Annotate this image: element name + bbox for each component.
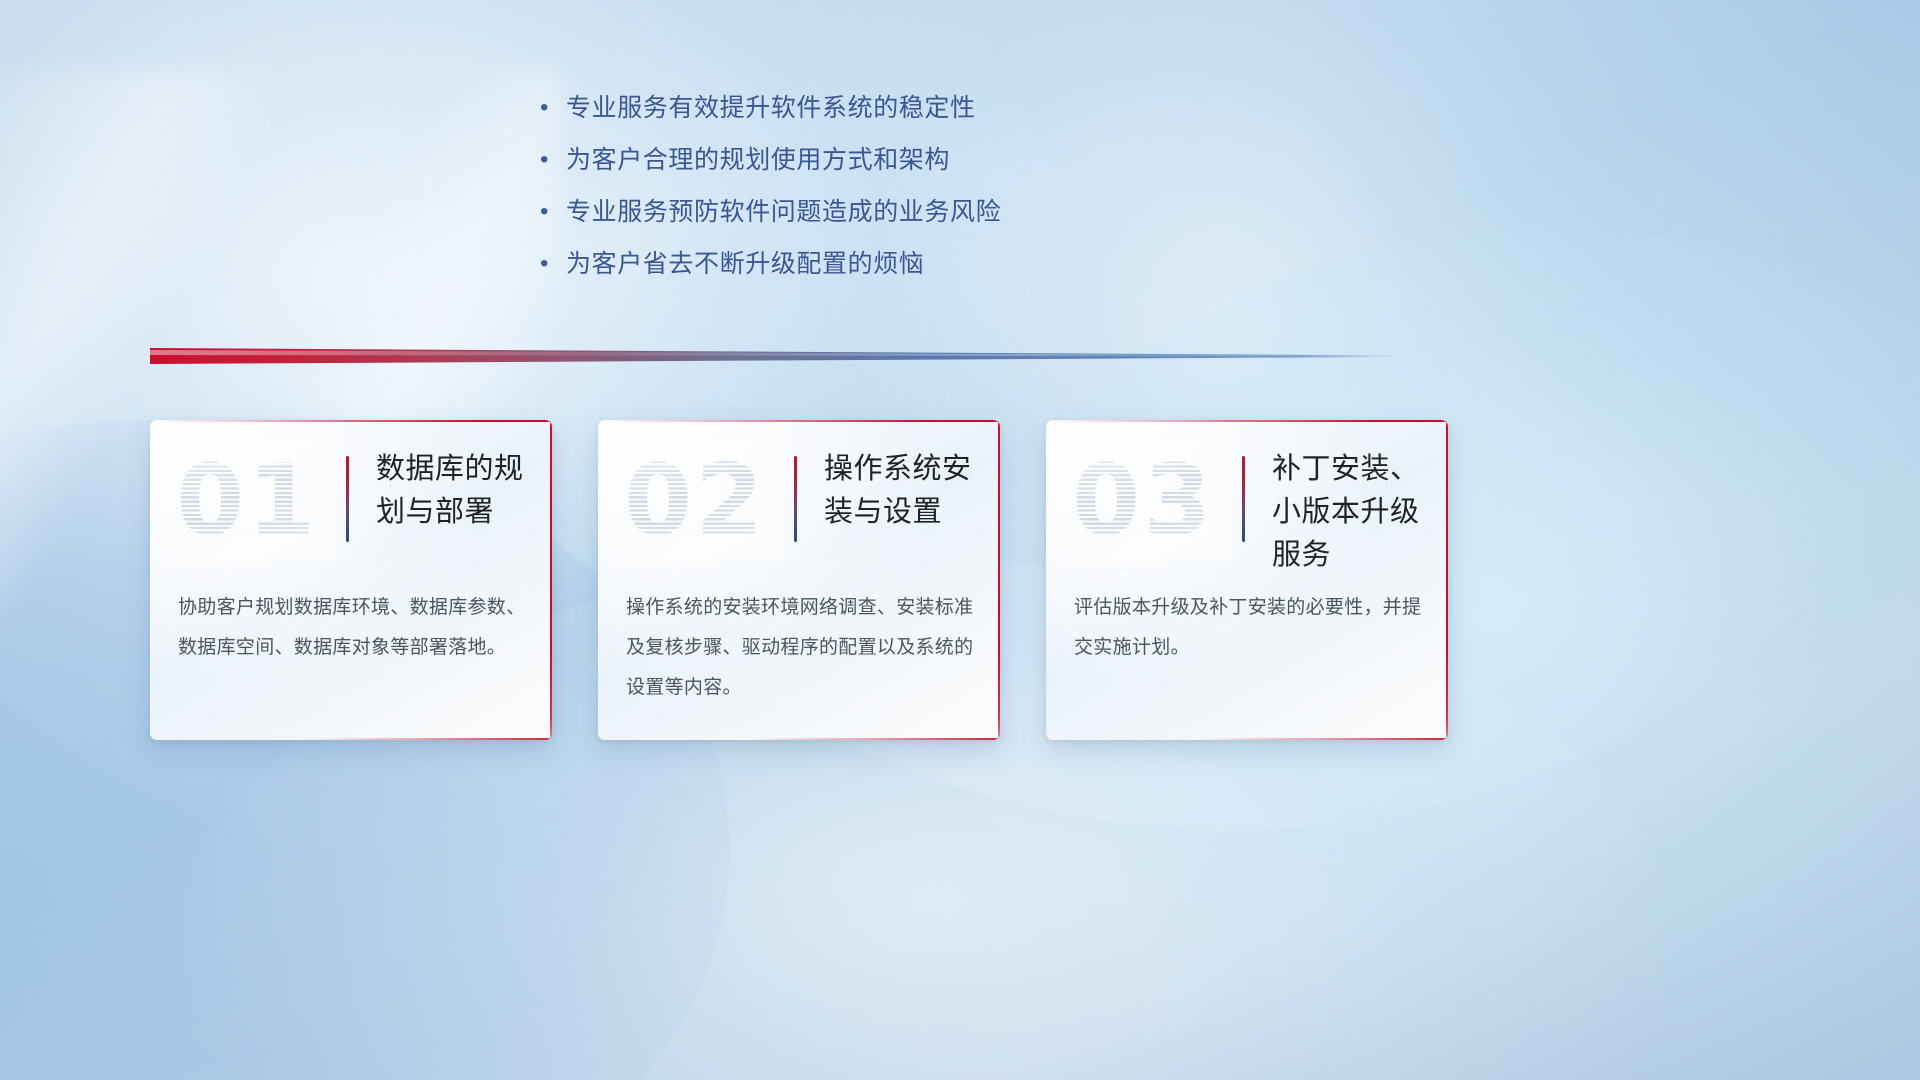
card-number-text: 03: [1072, 444, 1214, 558]
service-card-list: 01 数据库的规划与部署 协助客户规划数据库环境、数据库参数、数据库空间、数据库…: [150, 420, 1450, 740]
bullet-text: 为客户合理的规划使用方式和架构: [566, 142, 950, 178]
card-accent-bottom-border: [303, 738, 552, 740]
card-header: 02 操作系统安装与设置: [598, 420, 1000, 578]
bullet-text: 专业服务有效提升软件系统的稳定性: [566, 90, 976, 126]
card-number-watermark: 03: [1072, 442, 1232, 560]
bullet-text: 专业服务预防软件问题造成的业务风险: [566, 194, 1001, 230]
service-card-02[interactable]: 02 操作系统安装与设置 操作系统的安装环境网络调查、安装标准及复核步骤、驱动程…: [598, 420, 1000, 740]
bullet-dot-icon: •: [540, 142, 566, 178]
card-title: 操作系统安装与设置: [824, 448, 984, 534]
card-divider-bar: [794, 456, 797, 542]
list-item: • 为客户合理的规划使用方式和架构: [540, 142, 1160, 194]
card-header: 01 数据库的规划与部署: [150, 420, 552, 578]
section-divider: [150, 348, 1400, 364]
bullet-dot-icon: •: [540, 194, 566, 230]
card-number-watermark: 01: [176, 442, 336, 560]
bullet-dot-icon: •: [540, 90, 566, 126]
service-card-03[interactable]: 03 补丁安装、小版本升级服务 评估版本升级及补丁安装的必要性，并提交实施计划。: [1046, 420, 1448, 740]
card-accent-bottom-border: [1199, 738, 1448, 740]
card-title: 数据库的规划与部署: [376, 448, 536, 534]
card-body-text: 评估版本升级及补丁安装的必要性，并提交实施计划。: [1074, 588, 1422, 668]
divider-gradient-bar: [150, 348, 1400, 364]
card-number-text: 02: [624, 444, 766, 558]
card-body-text: 操作系统的安装环境网络调查、安装标准及复核步骤、驱动程序的配置以及系统的设置等内…: [626, 588, 974, 708]
card-body-text: 协助客户规划数据库环境、数据库参数、数据库空间、数据库对象等部署落地。: [178, 588, 526, 668]
card-number-text: 01: [176, 444, 318, 558]
card-title: 补丁安装、小版本升级服务: [1272, 448, 1432, 577]
list-item: • 为客户省去不断升级配置的烦恼: [540, 246, 1160, 298]
card-divider-bar: [1242, 456, 1245, 542]
card-header: 03 补丁安装、小版本升级服务: [1046, 420, 1448, 578]
card-accent-bottom-border: [751, 738, 1000, 740]
list-item: • 专业服务预防软件问题造成的业务风险: [540, 194, 1160, 246]
bullet-dot-icon: •: [540, 246, 566, 282]
bullet-text: 为客户省去不断升级配置的烦恼: [566, 246, 924, 282]
list-item: • 专业服务有效提升软件系统的稳定性: [540, 90, 1160, 142]
benefits-bullet-list: • 专业服务有效提升软件系统的稳定性 • 为客户合理的规划使用方式和架构 • 专…: [540, 90, 1160, 298]
service-card-01[interactable]: 01 数据库的规划与部署 协助客户规划数据库环境、数据库参数、数据库空间、数据库…: [150, 420, 552, 740]
card-number-watermark: 02: [624, 442, 784, 560]
card-divider-bar: [346, 456, 349, 542]
